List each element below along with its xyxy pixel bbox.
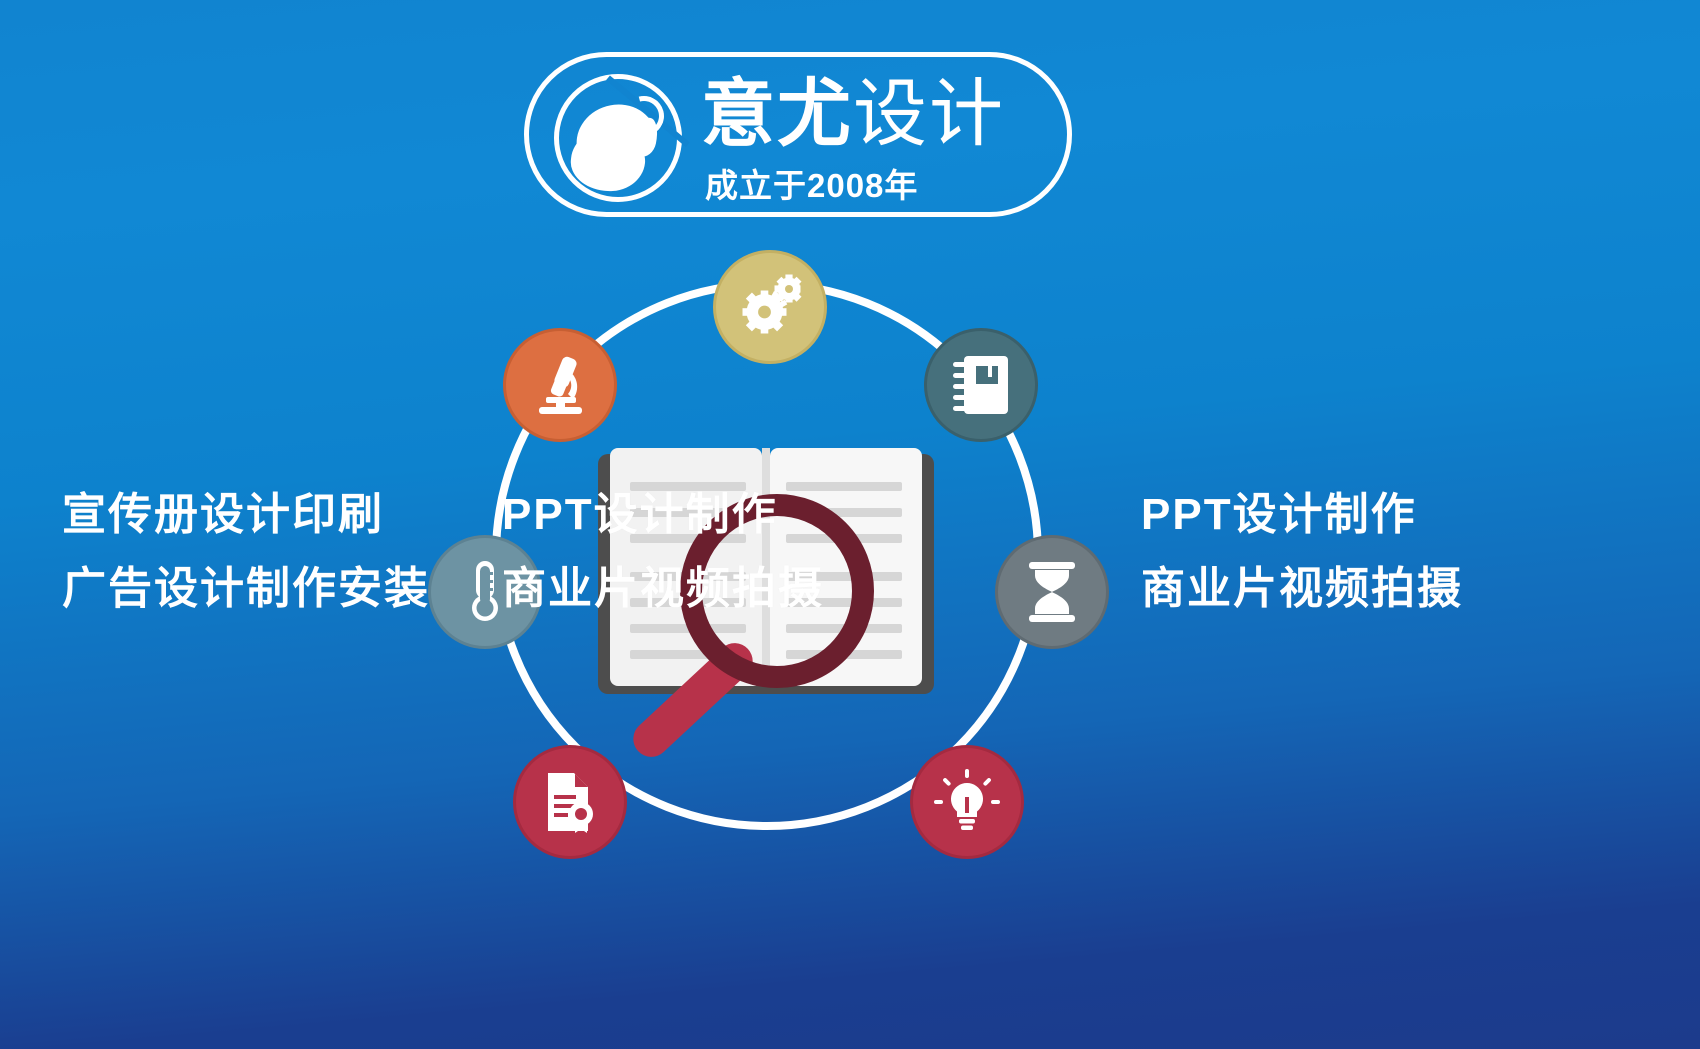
- node-notebook[interactable]: [924, 328, 1038, 442]
- text-left-line1: 宣传册设计印刷: [62, 478, 430, 552]
- leaf-sprout-logo-icon: [554, 74, 682, 202]
- logo-diagonal-cut: [544, 76, 689, 221]
- node-gears[interactable]: [713, 250, 827, 364]
- hourglass-icon: [1025, 561, 1079, 623]
- text-left-line2: 广告设计制作安装: [62, 552, 430, 626]
- node-hourglass[interactable]: [995, 535, 1109, 649]
- thermometer-icon: [466, 560, 504, 624]
- text-center-line2: 商业片视频拍摄: [502, 552, 824, 626]
- logo-title-bold: 意尤: [701, 72, 853, 155]
- text-block-center: PPT设计制作 商业片视频拍摄: [502, 478, 824, 626]
- text-right-line1: PPT设计制作: [1141, 478, 1463, 552]
- microscope-icon: [529, 354, 591, 416]
- node-microscope[interactable]: [503, 328, 617, 442]
- logo-title: 意尤设计: [701, 71, 1005, 157]
- text-block-right: PPT设计制作 商业片视频拍摄: [1141, 478, 1463, 626]
- logo-badge: 意尤设计 成立于2008年: [524, 52, 1072, 217]
- logo-subtitle: 成立于2008年: [705, 159, 918, 207]
- logo-text-wrap: 意尤设计 成立于2008年: [701, 67, 1061, 209]
- text-right-line2: 商业片视频拍摄: [1141, 552, 1463, 626]
- text-center-line1: PPT设计制作: [502, 478, 824, 552]
- text-block-left: 宣传册设计印刷 广告设计制作安装: [62, 478, 430, 626]
- gears-icon: [733, 272, 807, 342]
- notebook-icon: [952, 354, 1010, 416]
- slide-canvas: 意尤设计 成立于2008年: [0, 0, 1700, 1049]
- logo-title-thin: 设计: [853, 72, 1005, 155]
